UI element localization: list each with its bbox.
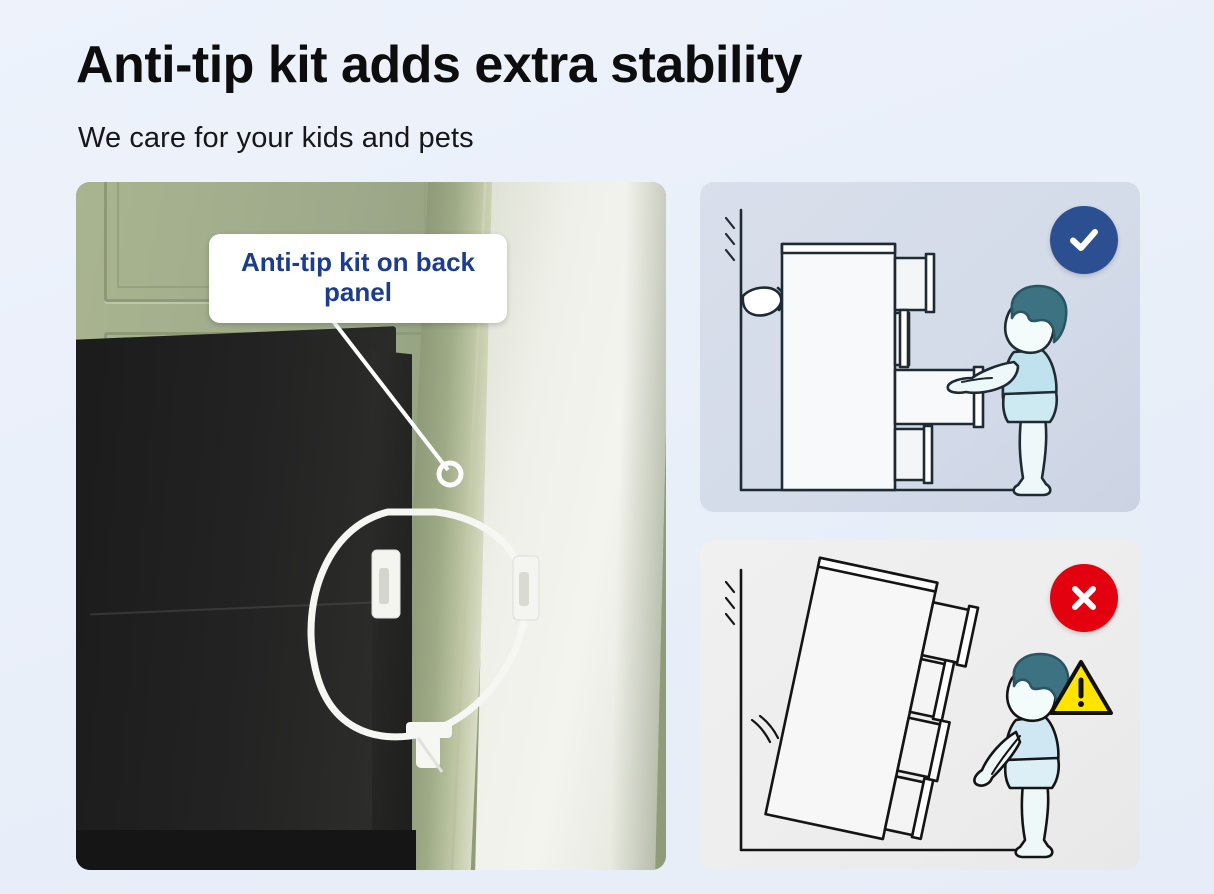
page-root: Anti-tip kit adds extra stability We car… xyxy=(0,0,1214,894)
callout-leader-dot xyxy=(439,463,461,485)
dresser-top xyxy=(782,244,895,253)
cabinet-bracket xyxy=(372,550,400,618)
correct-badge xyxy=(1050,206,1118,274)
panel-correct-usage xyxy=(700,182,1140,512)
x-icon xyxy=(1064,578,1104,618)
wall-bracket xyxy=(513,556,539,620)
product-photo: Anti-tip kit on back panel xyxy=(76,182,666,870)
child-figure xyxy=(948,286,1066,495)
dresser-body xyxy=(782,244,895,490)
incorrect-badge xyxy=(1050,564,1118,632)
warning-triangle-icon xyxy=(1048,658,1114,718)
drawer-3 xyxy=(895,367,983,427)
drawer-4 xyxy=(895,426,932,483)
callout-label: Anti-tip kit on back panel xyxy=(241,247,475,307)
strap-buckle xyxy=(406,722,452,772)
anti-tip-strap-diagram xyxy=(743,288,784,316)
callout-bubble: Anti-tip kit on back panel xyxy=(209,234,507,323)
drawer-2 xyxy=(895,310,909,367)
check-icon xyxy=(1064,220,1104,260)
page-title: Anti-tip kit adds extra stability xyxy=(76,38,802,93)
page-subtitle: We care for your kids and pets xyxy=(78,122,474,155)
panel-incorrect-usage xyxy=(700,540,1140,870)
drawer-1 xyxy=(895,254,934,312)
dresser-tipping xyxy=(765,558,981,849)
